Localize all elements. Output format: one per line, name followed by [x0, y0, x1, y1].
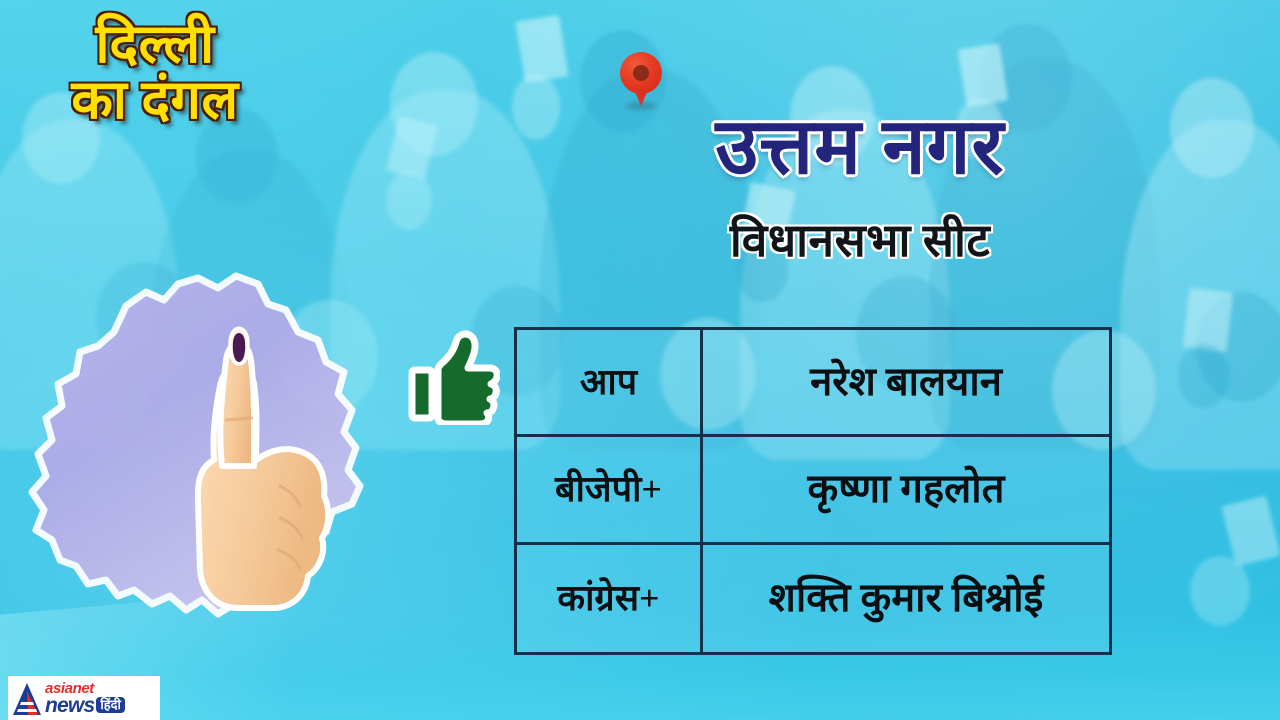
table-row: बीजेपी+ कृष्णा गहलोत: [517, 437, 1109, 544]
delhi-map-graphic: [22, 248, 382, 658]
show-title-line-1: दिल्ली: [95, 14, 214, 74]
show-title-line-2: का दंगल: [30, 72, 280, 128]
table-cell-party: कांग्रेस+: [517, 545, 703, 652]
page-title: उत्तम नगर: [600, 108, 1120, 186]
channel-logo-text: asianet news हिंदी: [45, 682, 125, 715]
thumbs-up-icon: [408, 330, 500, 425]
brand-name-bottom: news: [45, 696, 94, 715]
table-cell-party: आप: [517, 330, 703, 434]
brand-language-badge: हिंदी: [96, 697, 125, 713]
table-cell-party: बीजेपी+: [517, 437, 703, 541]
infographic-card: दिल्ली का दंगल उत्तम नगर विधानसभा सीट: [0, 0, 1280, 720]
page-subtitle: विधानसभा सीट: [600, 218, 1120, 264]
table-cell-candidate: नरेश बालयान: [703, 330, 1109, 434]
asianet-triangle-logo-icon: [12, 682, 42, 716]
table-cell-candidate: शक्ति कुमार बिश्नोई: [703, 545, 1109, 652]
table-row: आप नरेश बालयान: [517, 330, 1109, 437]
pin-center-dot: [633, 65, 649, 81]
show-title: दिल्ली का दंगल: [30, 16, 280, 128]
channel-logo: asianet news हिंदी: [8, 676, 160, 720]
location-pin-icon: [620, 52, 662, 108]
table-cell-candidate: कृष्णा गहलोत: [703, 437, 1109, 541]
table-row: कांग्रेस+ शक्ति कुमार बिश्नोई: [517, 545, 1109, 652]
candidates-table: आप नरेश बालयान बीजेपी+ कृष्णा गहलोत कांग…: [514, 327, 1112, 655]
inked-finger-hand-icon: [154, 300, 344, 640]
